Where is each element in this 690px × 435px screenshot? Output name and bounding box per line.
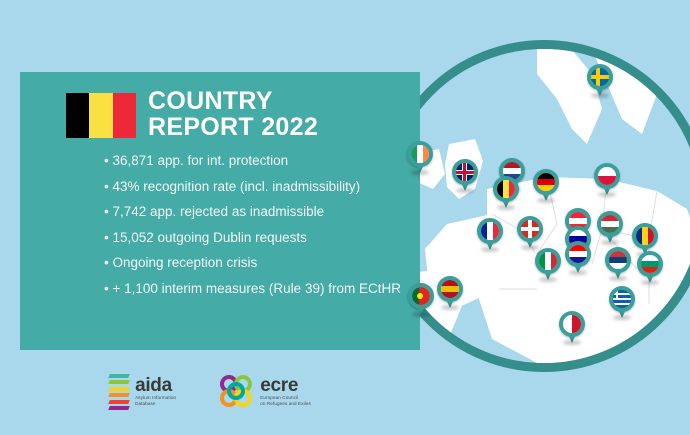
map-pin-bulgaria[interactable] <box>637 251 663 284</box>
pin-shadow <box>563 340 581 345</box>
pin-shadow <box>481 247 499 252</box>
map-pin-greece[interactable] <box>609 286 635 319</box>
map-pin-portugal[interactable] <box>408 283 434 316</box>
pin-shadow <box>601 240 619 245</box>
pin-shadow <box>537 198 555 203</box>
map-pin-layer <box>0 0 690 435</box>
map-pin-germany[interactable] <box>533 169 559 202</box>
map-pin-italy[interactable] <box>535 248 561 281</box>
map-pin-hungary[interactable] <box>597 211 623 244</box>
map-pin-ireland[interactable] <box>407 141 433 174</box>
flag-france <box>481 222 499 240</box>
flag-romania <box>636 227 654 245</box>
pin-shadow <box>456 188 474 193</box>
infographic-canvas: COUNTRY REPORT 2022 • 36,871 app. for in… <box>0 0 690 435</box>
map-pin-serbia[interactable] <box>605 247 631 280</box>
flag-italy <box>539 252 557 270</box>
map-pin-sweden[interactable] <box>587 64 613 97</box>
flag-portugal <box>412 287 430 305</box>
pin-shadow <box>613 315 631 320</box>
map-pin-switzerland[interactable] <box>517 216 543 249</box>
map-pin-poland[interactable] <box>594 163 620 196</box>
flag-united-kingdom <box>456 163 474 181</box>
flag-ireland <box>411 145 429 163</box>
flag-serbia <box>609 251 627 269</box>
pin-shadow <box>598 192 616 197</box>
pin-shadow <box>609 276 627 281</box>
flag-belgium <box>497 180 515 198</box>
map-pin-belgium[interactable] <box>493 176 519 209</box>
flag-greece <box>613 290 631 308</box>
map-pin-france[interactable] <box>477 218 503 251</box>
pin-shadow <box>441 305 459 310</box>
map-pin-spain[interactable] <box>437 276 463 309</box>
flag-hungary <box>601 215 619 233</box>
flag-croatia <box>569 245 587 263</box>
map-pin-united-kingdom[interactable] <box>452 159 478 192</box>
flag-spain <box>441 280 459 298</box>
map-pin-croatia[interactable] <box>565 241 591 274</box>
pin-shadow <box>591 93 609 98</box>
pin-shadow <box>497 205 515 210</box>
flag-poland <box>598 167 616 185</box>
flag-sweden <box>591 68 609 86</box>
flag-switzerland <box>521 220 539 238</box>
pin-shadow <box>641 280 659 285</box>
pin-shadow <box>569 270 587 275</box>
pin-shadow <box>412 312 430 317</box>
pin-shadow <box>539 277 557 282</box>
pin-shadow <box>411 170 429 175</box>
flag-bulgaria <box>641 255 659 273</box>
map-pin-malta[interactable] <box>559 311 585 344</box>
flag-germany <box>537 173 555 191</box>
flag-malta <box>563 315 581 333</box>
